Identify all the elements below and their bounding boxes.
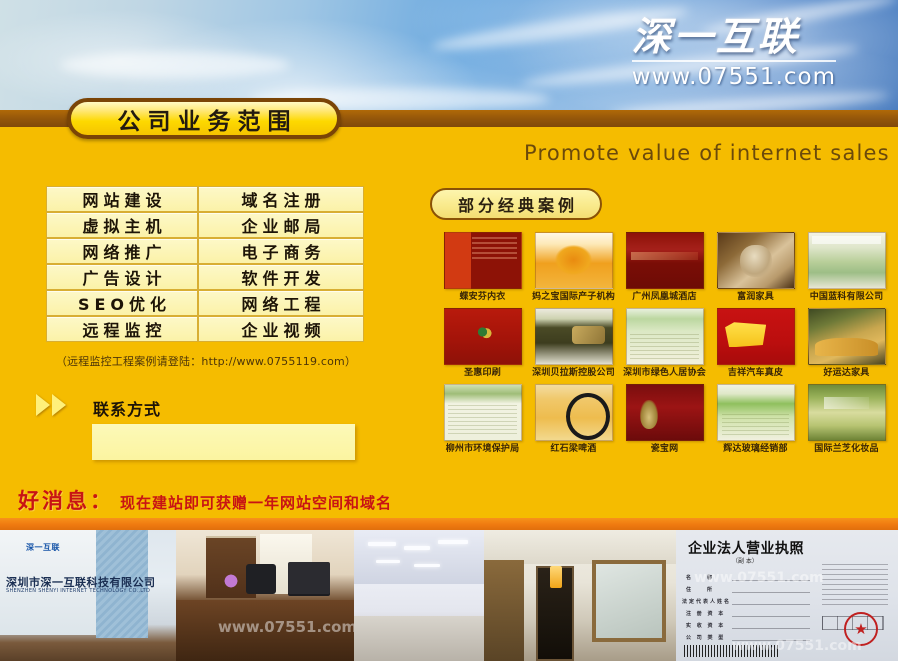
case-thumbnail[interactable] bbox=[717, 384, 795, 441]
case-label: 瓷宝网 bbox=[619, 445, 710, 457]
service-cell: 电子商务 bbox=[198, 238, 364, 264]
contact-label: 联系方式 bbox=[93, 396, 161, 420]
case-label: 深圳贝拉斯控股公司 bbox=[528, 369, 619, 381]
table-row: 广告设计 软件开发 bbox=[46, 264, 364, 290]
list-item[interactable]: 好运达家具 bbox=[801, 308, 892, 381]
table-row: 远程监控 企业视频 bbox=[46, 316, 364, 342]
case-label: 中国蓝科有限公司 bbox=[801, 293, 892, 305]
photo-strip: 深一互联 深圳市深一互联科技有限公司 SHENZHEN SHENYI INTER… bbox=[0, 530, 898, 661]
brand-logo: 深一互联 www.07551.com bbox=[632, 18, 836, 90]
orange-divider bbox=[0, 518, 898, 530]
list-item[interactable]: 国际兰芝化妆品 bbox=[801, 384, 892, 457]
brand-logo-url: www.07551.com bbox=[632, 64, 836, 90]
photo-ceiling bbox=[484, 530, 676, 564]
service-cell: 网络推广 bbox=[46, 238, 198, 264]
list-item[interactable]: 富润家具 bbox=[710, 232, 801, 305]
case-label: 吉祥汽车真皮 bbox=[710, 369, 801, 381]
list-item[interactable]: 柳州市环境保护局 bbox=[437, 384, 528, 457]
photo-lamp bbox=[550, 566, 562, 588]
cases-section-title: 部分经典案例 bbox=[430, 188, 602, 220]
list-item[interactable]: 辉达玻璃经销部 bbox=[710, 384, 801, 457]
license-field-label: 住 所 bbox=[686, 586, 714, 593]
case-thumbnail[interactable] bbox=[808, 232, 886, 289]
list-item[interactable]: 中国蓝科有限公司 bbox=[801, 232, 892, 305]
license-barcode bbox=[684, 645, 780, 657]
photo-cubicles bbox=[354, 616, 484, 661]
page-title-text: 公司业务范围 bbox=[111, 102, 298, 136]
list-item[interactable]: 红石梁啤酒 bbox=[528, 384, 619, 457]
tagline: Promote value of internet sales bbox=[524, 141, 890, 165]
contact-value-box[interactable] bbox=[92, 424, 355, 460]
services-table: 网站建设 域名注册 虚拟主机 企业邮局 网络推广 电子商务 广告设计 软件开发 … bbox=[46, 186, 364, 342]
list-item[interactable]: 广州凤凰城酒店 bbox=[619, 232, 710, 305]
list-item[interactable]: 深圳市绿色人居协会 bbox=[619, 308, 710, 381]
case-thumbnail[interactable] bbox=[626, 232, 704, 289]
case-label: 国际兰芝化妆品 bbox=[801, 445, 892, 457]
license-field-label: 法定代表人姓名 bbox=[682, 598, 731, 605]
case-label: 广州凤凰城酒店 bbox=[619, 293, 710, 305]
case-label: 深圳市绿色人居协会 bbox=[619, 369, 710, 381]
list-item[interactable]: 妈之宝国际产子机构 bbox=[528, 232, 619, 305]
case-label: 蝶安芬内衣 bbox=[437, 293, 528, 305]
services-table-body: 网站建设 域名注册 虚拟主机 企业邮局 网络推广 电子商务 广告设计 软件开发 … bbox=[46, 186, 364, 342]
arrow-icon bbox=[36, 394, 50, 416]
service-cell: 网络工程 bbox=[198, 290, 364, 316]
photo-monitor bbox=[288, 562, 330, 594]
case-thumbnail[interactable] bbox=[444, 232, 522, 289]
license-title: 企业法人营业执照 bbox=[688, 538, 804, 558]
license-field-label: 实 收 资 本 bbox=[686, 622, 725, 629]
service-cell: 网站建设 bbox=[46, 186, 198, 212]
photo-window bbox=[592, 560, 666, 642]
case-thumbnail[interactable] bbox=[535, 384, 613, 441]
case-label: 富润家具 bbox=[710, 293, 801, 305]
photo-desk bbox=[176, 600, 354, 661]
photo-flower bbox=[220, 570, 242, 592]
case-label: 红石梁啤酒 bbox=[528, 445, 619, 457]
promo-banner: 好消息： 现在建站即可获赠一年网站空间和域名 bbox=[18, 485, 392, 515]
photo-business-license: 企业法人营业执照 （副 本） 名 称 住 所 法定代表人姓名 注 册 资 本 实… bbox=[676, 530, 898, 661]
case-thumbnail[interactable] bbox=[535, 232, 613, 289]
promo-body: 现在建站即可获赠一年网站空间和域名 bbox=[120, 492, 392, 513]
case-thumbnail[interactable] bbox=[535, 308, 613, 365]
cases-grid: 蝶安芬内衣 妈之宝国际产子机构 广州凤凰城酒店 富润家具 中国蓝科有限公司 圣惠… bbox=[437, 232, 892, 457]
case-thumbnail[interactable] bbox=[626, 308, 704, 365]
service-cell: 虚拟主机 bbox=[46, 212, 198, 238]
brand-logo-cn: 深一互联 bbox=[632, 18, 836, 59]
case-thumbnail[interactable] bbox=[717, 308, 795, 365]
office-sign-logo: 深一互联 bbox=[26, 542, 60, 553]
case-thumbnail[interactable] bbox=[444, 384, 522, 441]
list-item[interactable]: 蝶安芬内衣 bbox=[437, 232, 528, 305]
case-thumbnail[interactable] bbox=[626, 384, 704, 441]
license-field-label: 注 册 资 本 bbox=[686, 610, 725, 617]
service-cell: 企业邮局 bbox=[198, 212, 364, 238]
service-cell: 域名注册 bbox=[198, 186, 364, 212]
license-field-label: 名 称 bbox=[686, 574, 714, 581]
table-row: 虚拟主机 企业邮局 bbox=[46, 212, 364, 238]
photo-wood-wall bbox=[484, 560, 524, 661]
case-thumbnail[interactable] bbox=[717, 232, 795, 289]
page-title: 公司业务范围 bbox=[67, 98, 341, 139]
table-row: SEO优化 网络工程 bbox=[46, 290, 364, 316]
list-item[interactable]: 深圳贝拉斯控股公司 bbox=[528, 308, 619, 381]
cases-section-title-text: 部分经典案例 bbox=[454, 192, 578, 216]
license-notes-block bbox=[822, 564, 888, 608]
case-thumbnail[interactable] bbox=[808, 308, 886, 365]
double-arrow-icon bbox=[36, 394, 66, 416]
case-thumbnail[interactable] bbox=[808, 384, 886, 441]
photo-chair bbox=[246, 564, 276, 594]
case-label: 柳州市环境保护局 bbox=[437, 445, 528, 457]
photo-corridor bbox=[484, 530, 676, 661]
table-row: 网站建设 域名注册 bbox=[46, 186, 364, 212]
official-seal-icon: ★ bbox=[844, 612, 878, 646]
photo-ceiling bbox=[354, 530, 484, 584]
service-cell: 企业视频 bbox=[198, 316, 364, 342]
service-cell: SEO优化 bbox=[46, 290, 198, 316]
table-row: 网络推广 电子商务 bbox=[46, 238, 364, 264]
case-label: 辉达玻璃经销部 bbox=[710, 445, 801, 457]
promo-title: 好消息： bbox=[18, 485, 114, 515]
list-item[interactable]: 吉祥汽车真皮 bbox=[710, 308, 801, 381]
photo-manager-office: www.07551.com bbox=[176, 530, 354, 661]
service-cell: 广告设计 bbox=[46, 264, 198, 290]
service-cell: 远程监控 bbox=[46, 316, 198, 342]
case-label: 妈之宝国际产子机构 bbox=[528, 293, 619, 305]
list-item[interactable]: 圣惠印刷 bbox=[437, 308, 528, 381]
brand-logo-rule bbox=[632, 60, 836, 62]
service-cell: 软件开发 bbox=[198, 264, 364, 290]
office-sign-en: SHENZHEN SHENYI INTERNET TECHNOLOGY CO.,… bbox=[6, 588, 150, 594]
case-thumbnail[interactable] bbox=[444, 308, 522, 365]
list-item[interactable]: 瓷宝网 bbox=[619, 384, 710, 457]
arrow-icon bbox=[52, 394, 66, 416]
license-subtitle: （副 本） bbox=[732, 556, 758, 565]
case-label: 圣惠印刷 bbox=[437, 369, 528, 381]
license-field-label: 公 司 类 型 bbox=[686, 634, 725, 641]
case-label: 好运达家具 bbox=[801, 369, 892, 381]
photo-office-reception: 深一互联 深圳市深一互联科技有限公司 SHENZHEN SHENYI INTER… bbox=[0, 530, 176, 661]
photo-open-workspace bbox=[354, 530, 484, 661]
services-note: （远程监控工程案例请登陆：http://www.0755119.com） bbox=[46, 353, 366, 369]
